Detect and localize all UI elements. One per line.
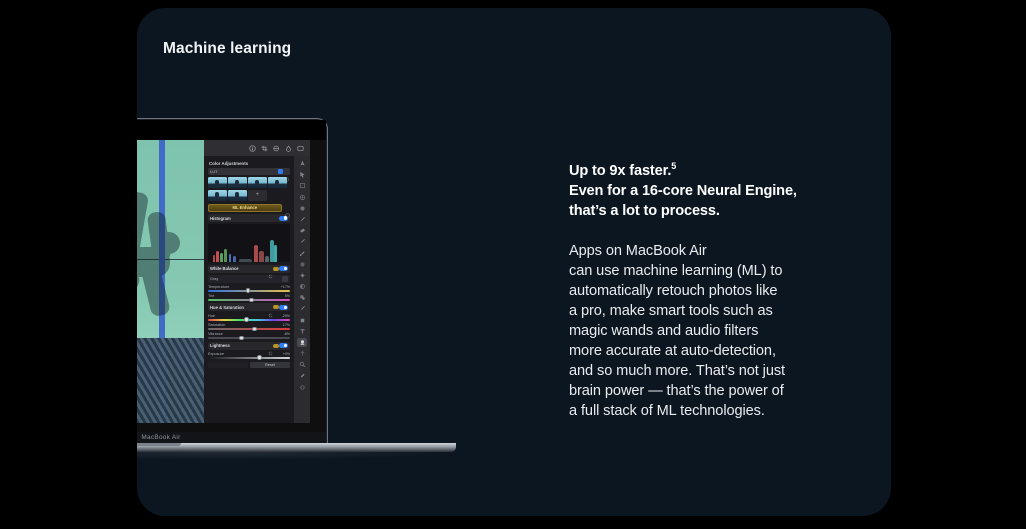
pencil-icon[interactable] [297,237,307,246]
reset-button[interactable]: Reset [250,362,290,369]
content-card: Machine learning [137,8,891,516]
lut-dropdown[interactable]: LUT [208,168,290,175]
text-icon[interactable] [297,327,307,336]
gray-picker-row[interactable]: Gray [208,275,290,283]
slider-value: -29% [282,314,290,318]
preset-thumbnail[interactable] [208,190,227,201]
laptop-screen: Color Adjustments LUT [137,140,326,434]
slider-label: Exposure [208,352,224,356]
slider-label: Temperature [208,285,229,289]
add-preset-button[interactable] [248,190,267,201]
clone-icon[interactable] [297,204,307,213]
histogram-peak [229,254,231,262]
smudge-icon[interactable] [297,316,307,325]
headline-line: Even for a 16-core Neural Engine, [569,181,869,201]
ml-enhance-row: ML Enhance [208,204,290,212]
info-icon[interactable] [249,145,256,152]
slider-knob[interactable] [252,327,257,332]
histogram-peak [216,251,218,262]
panel-footer-buttons: Reset [208,362,290,369]
ml-enhance-button[interactable]: ML Enhance [208,204,282,212]
compare-icon[interactable] [297,145,304,152]
body-line: automatically retouch photos like [569,281,869,301]
preview-toggle-button[interactable] [208,362,248,369]
histogram-graph [208,224,290,262]
mask-icon[interactable] [297,349,307,358]
ml-enhance-info-icon[interactable] [285,205,290,210]
photo-canvas[interactable] [137,140,204,423]
slider-hue[interactable]: Hue -29% [208,314,290,321]
laptop-base [137,443,456,452]
group-title: Lightness [210,343,266,348]
transform-icon[interactable] [297,193,307,202]
laptop-lid: Color Adjustments LUT [137,118,328,443]
reset-button-label: Reset [265,363,275,367]
histogram-peak [220,253,222,262]
inspector: Color Adjustments LUT [204,156,310,423]
slider-knob[interactable] [257,355,262,360]
headline-line: Up to 9x faster.5 [569,156,869,181]
app-toolbar [204,140,310,156]
slider-label: Tint [208,294,214,298]
histogram-peak [254,245,258,262]
footnote-marker: 5 [671,161,676,171]
histogram-peak [274,245,277,262]
histogram-peak [265,256,269,262]
body-paragraph: Apps on MacBook Aircan use machine learn… [569,241,869,421]
screen-bezel-top [137,120,326,140]
group-title: White Balance [210,266,266,271]
editor-panel: Color Adjustments LUT [204,140,310,423]
lut-apply-button[interactable] [278,169,283,174]
histogram-peak [224,249,226,262]
eyedropper-icon[interactable] [297,372,307,381]
group-title: Hue & Saturation [210,305,266,310]
slider-knob[interactable] [249,298,254,303]
stamp-icon[interactable] [297,338,307,347]
slider-value: -8% [284,332,290,336]
reset-icon[interactable] [268,266,273,271]
slider-temperature[interactable]: Temperature +17% [208,285,290,292]
slider-knob[interactable] [246,288,251,293]
eyedropper-icon[interactable] [282,276,288,282]
preset-thumbnail[interactable] [228,177,247,188]
copy-block: Up to 9x faster.5Even for a 16-core Neur… [569,156,869,421]
burn-icon[interactable] [297,282,307,291]
body-line: a full stack of ML technologies. [569,401,869,421]
sponge-icon[interactable] [297,293,307,302]
slider-value: 5% [285,294,290,298]
body-line: can use machine learning (ML) to [569,261,869,281]
pen-icon[interactable] [297,159,307,168]
more-icon[interactable] [297,383,307,392]
headline-line: that’s a lot to process. [569,201,869,221]
group-header-white-balance[interactable]: White Balance [208,265,290,273]
ml-enhance-label: ML Enhance [232,205,257,210]
slider-label: Hue [208,314,215,318]
gradient-icon[interactable] [297,304,307,313]
group-header-hue-saturation[interactable]: Hue & Saturation [208,303,290,311]
slider-tint[interactable]: Tint 5% [208,294,290,301]
properties-column: Color Adjustments LUT [204,156,294,423]
preset-thumbnail-grid[interactable] [208,177,290,201]
slider-value: 17% [283,323,290,327]
retouch-icon[interactable] [285,145,292,152]
preset-thumbnail[interactable] [208,177,227,188]
histogram-peak [213,255,215,263]
laptop-model-label: MacBook Air [141,434,180,441]
white-balance-toggle[interactable] [279,266,288,271]
athlete-shadow [137,192,178,352]
blur-icon[interactable] [297,260,307,269]
photo-image [137,140,204,423]
slider-knob[interactable] [239,336,244,341]
reset-icon[interactable] [268,305,273,310]
preset-thumbnail[interactable] [248,177,267,188]
lut-dropdown-value: LUT [210,169,278,174]
section-title: Machine learning [163,40,291,58]
cursor-icon[interactable] [297,170,307,179]
body-line: and so much more. That’s not just [569,361,869,381]
histogram-peak [259,251,264,262]
body-line: a pro, make smart tools such as [569,301,869,321]
panel-title: Color Adjustments [209,161,290,166]
preset-thumbnail[interactable] [228,190,247,201]
zoom-icon[interactable] [297,360,307,369]
body-line: more accurate at auto-detection, [569,341,869,361]
histogram-peak [233,256,236,262]
body-line: brain power — that’s the power of [569,381,869,401]
lut-info-icon[interactable] [284,169,289,174]
laptop-shadow [137,452,452,460]
macbook-air-illustration: Color Adjustments LUT [137,118,466,463]
reset-icon[interactable] [268,343,273,348]
adjust-icon[interactable] [273,145,280,152]
headline: Up to 9x faster.5Even for a 16-core Neur… [569,156,869,221]
crop-icon[interactable] [297,181,307,190]
eraser-icon[interactable] [297,226,307,235]
slider-label: Vibrance [208,332,223,336]
gray-label: Gray [210,277,218,281]
group-header-histogram[interactable]: Histogram [208,214,290,222]
hue-saturation-toggle[interactable] [279,305,288,310]
group-header-lightness[interactable]: Lightness [208,342,290,350]
slider-value: +0% [283,352,290,356]
histogram-peak [239,259,252,262]
histogram-toggle[interactable] [279,216,288,221]
slider-exposure[interactable]: Exposure +0% [208,352,290,359]
preset-thumbnail[interactable] [268,177,287,188]
brush-icon[interactable] [297,215,307,224]
dodge-icon[interactable] [297,271,307,280]
group-title: Histogram [210,216,279,221]
paint-icon[interactable] [297,249,307,258]
slider-value: +17% [281,285,290,289]
body-line: Apps on MacBook Air [569,241,869,261]
body-line: magic wands and audio filters [569,321,869,341]
slider-vibrance[interactable]: Vibrance -8% [208,332,290,339]
laptop-model-label-bar: MacBook Air [137,432,326,443]
slider-saturation[interactable]: Saturation 17% [208,323,290,330]
crop-icon[interactable] [261,145,268,152]
slider-label: Saturation [208,323,225,327]
tool-rail [294,156,310,423]
slider-knob[interactable] [244,317,249,322]
lightness-toggle[interactable] [279,343,288,348]
laptop-base-notch [137,443,181,446]
